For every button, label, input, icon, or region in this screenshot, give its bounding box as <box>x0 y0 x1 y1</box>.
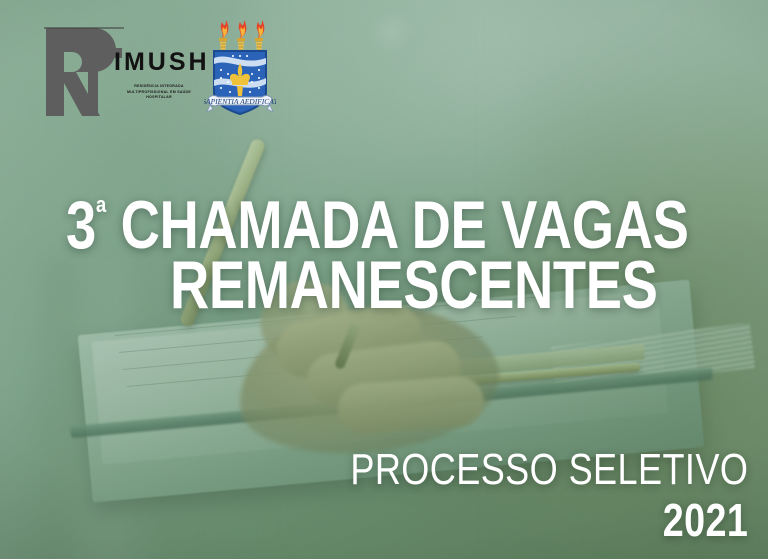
process-label: PROCESSO SELETIVO <box>350 448 748 492</box>
headline-number: 3 <box>66 187 96 263</box>
headline-ordinal: ª <box>96 193 106 232</box>
rimush-subtitle: RESIDÊNCIA INTEGRADA MULTIPROFISSIONAL E… <box>115 84 203 101</box>
footer-block: PROCESSO SELETIVO 2021 <box>263 448 748 545</box>
rimush-logo: IMUSH RESIDÊNCIA INTEGRADA MULTIPROFISSI… <box>42 22 190 122</box>
announcement-banner: IMUSH RESIDÊNCIA INTEGRADA MULTIPROFISSI… <box>0 0 768 559</box>
ufpb-motto: SAPIENTIA AEDIFICAT <box>204 97 276 106</box>
headline: 3ª CHAMADA DE VAGAS REMANESCENTES <box>66 196 768 315</box>
logo-group: IMUSH RESIDÊNCIA INTEGRADA MULTIPROFISSI… <box>42 22 276 130</box>
rimush-wordmark: IMUSH <box>114 50 210 75</box>
ufpb-coat-of-arms-icon: SAPIENTIA AEDIFICAT <box>204 18 276 130</box>
headline-line-1: 3ª CHAMADA DE VAGAS <box>66 196 688 254</box>
year-label: 2021 <box>350 496 748 545</box>
headline-line-2: REMANESCENTES <box>170 256 709 314</box>
